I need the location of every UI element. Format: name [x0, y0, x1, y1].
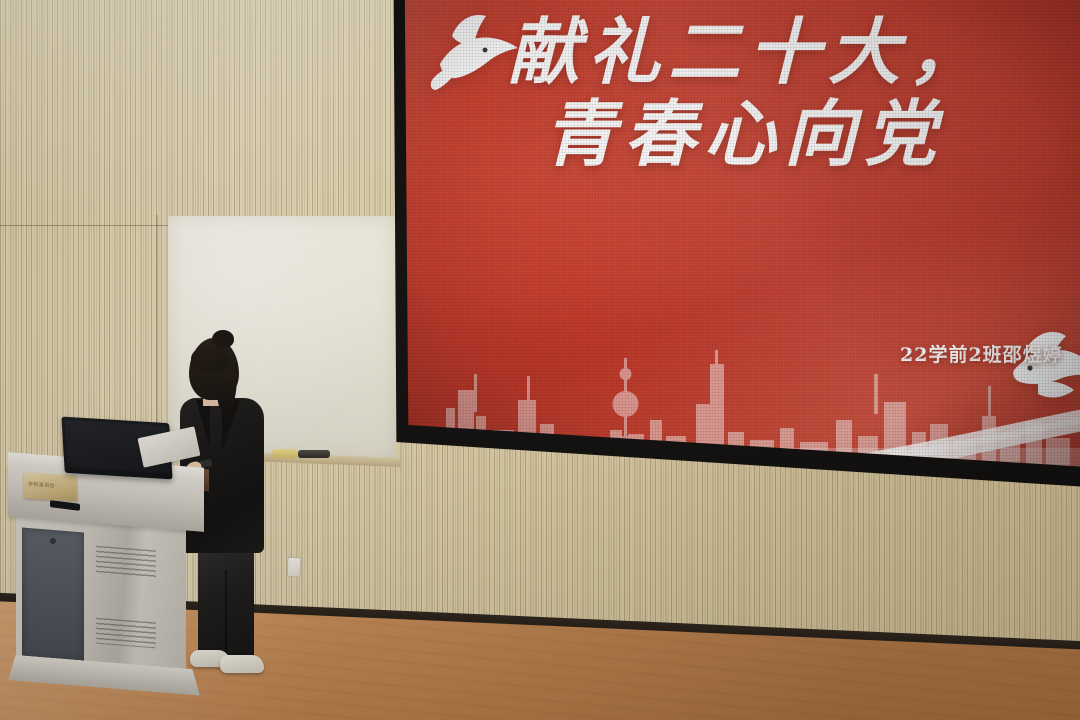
led-screen: 献礼二十大， 青春心向党 22学前2班邵煜婷 — [388, 0, 1080, 492]
podium-nameplate-text: 学校演讲台 — [28, 481, 55, 490]
podium-control-knob — [50, 538, 56, 544]
presentation-hall-photo: 献礼二十大， 青春心向党 22学前2班邵煜婷 — [0, 0, 1080, 720]
podium: 学校演讲台 — [8, 452, 218, 700]
screen-subtitle: 22学前2班邵煜婷 — [900, 340, 1063, 367]
presenter-lapel-left — [196, 400, 210, 448]
wall-panel-seam-vertical — [156, 215, 158, 455]
ledge-object-dark — [298, 450, 330, 458]
screen-title-block: 献礼二十大， 青春心向党 — [480, 14, 1080, 173]
screen-title-line-2: 青春心向党 — [544, 96, 1080, 172]
presenter-hair-bun — [212, 330, 234, 348]
podium-vent-lower — [96, 618, 156, 649]
wall-socket — [287, 557, 302, 578]
screen-title-line-1: 献礼二十大， — [508, 14, 1080, 90]
white-dove-icon-right — [1008, 322, 1080, 412]
presenter-fringe — [191, 346, 229, 371]
podium-front-panel — [22, 528, 84, 663]
led-screen-face: 献礼二十大， 青春心向党 22学前2班邵煜婷 — [388, 0, 1080, 492]
podium-nameplate: 学校演讲台 — [24, 472, 77, 501]
presenter-shoe-right — [220, 655, 264, 673]
presenter-leg-split — [225, 570, 227, 658]
podium-vent-upper — [96, 546, 156, 579]
